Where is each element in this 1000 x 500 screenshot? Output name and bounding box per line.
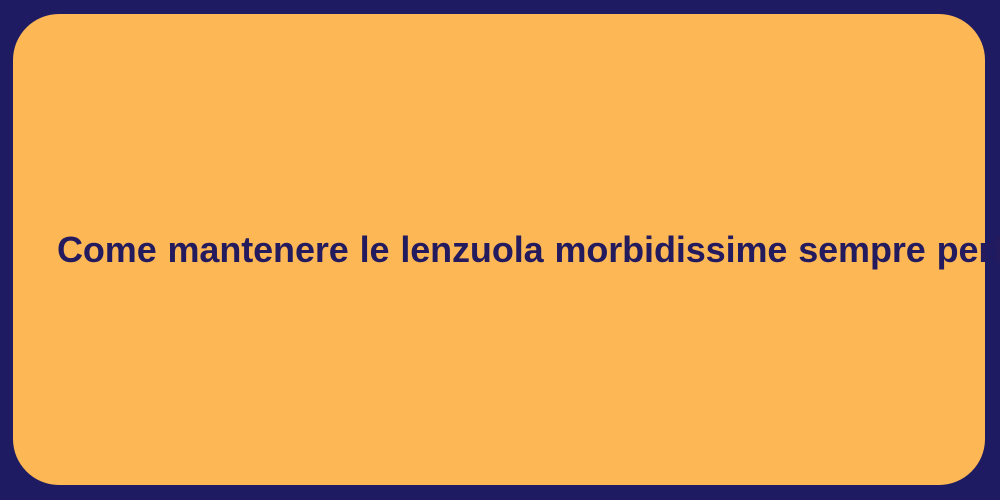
card-border-frame: Come mantenere le lenzuola morbidissime …	[0, 0, 1000, 500]
card-surface: Come mantenere le lenzuola morbidissime …	[13, 14, 985, 485]
page-title: Come mantenere le lenzuola morbidissime …	[57, 227, 941, 272]
